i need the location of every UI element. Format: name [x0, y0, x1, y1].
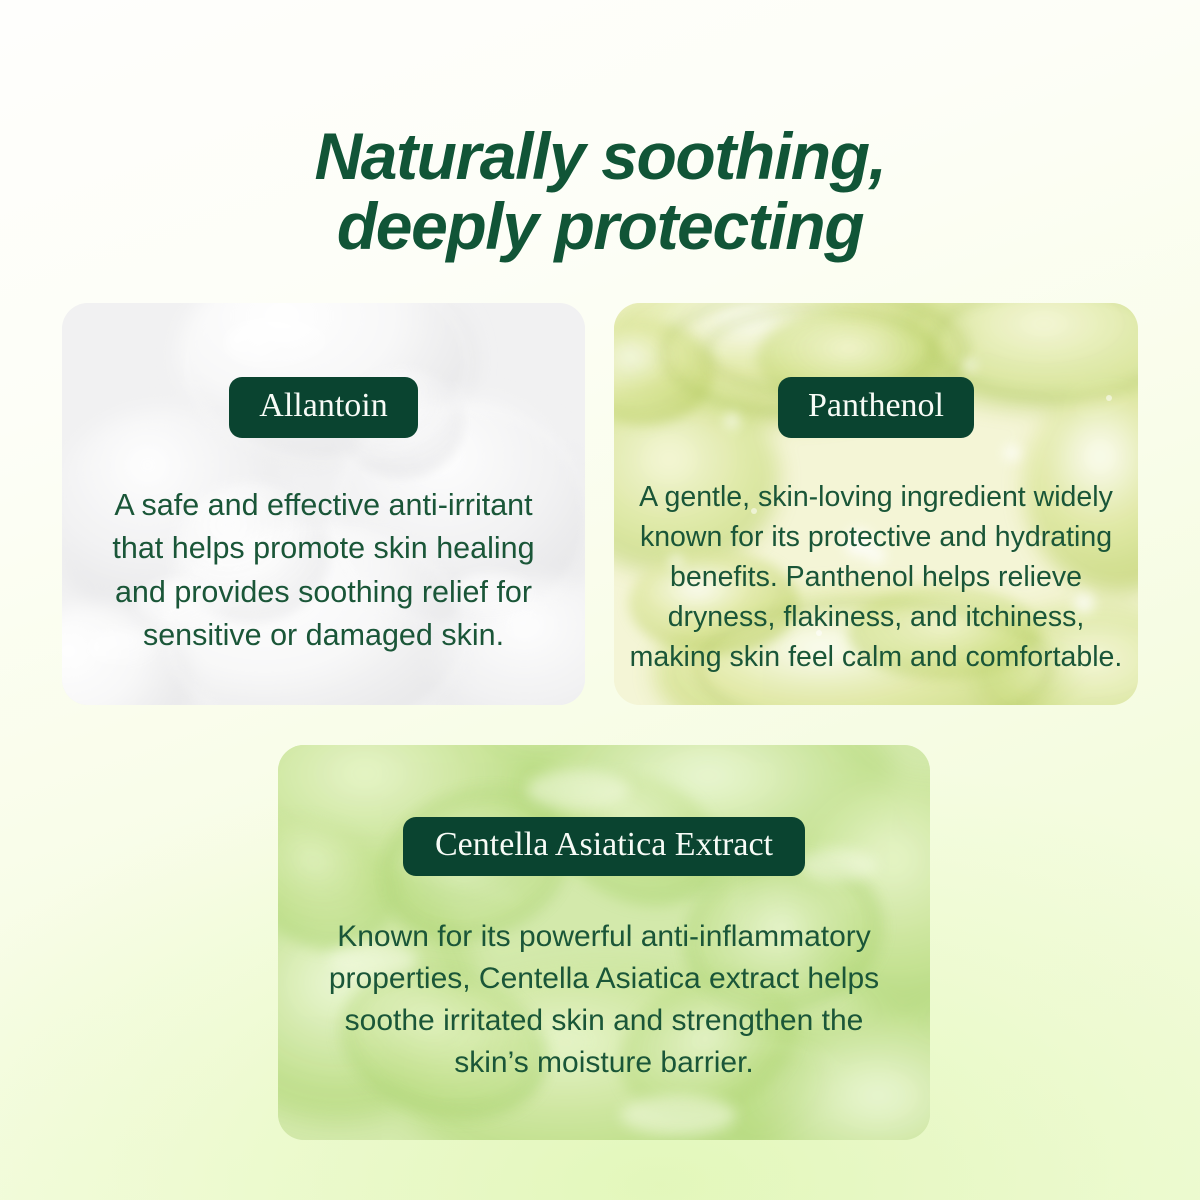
page-title-line-2: deeply protecting [0, 192, 1200, 262]
ingredient-card-panthenol: Panthenol A gentle, skin-loving ingredie… [614, 303, 1138, 705]
page-title: Naturally soothing, deeply protecting [0, 122, 1200, 262]
ingredient-card-centella: Centella Asiatica Extract Known for its … [278, 745, 930, 1140]
ingredient-description-allantoin: A safe and effective anti-irritant that … [89, 484, 559, 657]
card-content: Allantoin A safe and effective anti-irri… [62, 303, 585, 705]
ingredient-description-centella: Known for its powerful anti-inflammatory… [314, 916, 894, 1084]
ingredient-card-allantoin: Allantoin A safe and effective anti-irri… [62, 303, 585, 705]
ingredient-badge-panthenol: Panthenol [778, 377, 974, 438]
card-content: Panthenol A gentle, skin-loving ingredie… [614, 303, 1138, 705]
card-content: Centella Asiatica Extract Known for its … [278, 745, 930, 1140]
ingredient-badge-allantoin: Allantoin [229, 377, 417, 438]
page-title-line-1: Naturally soothing, [0, 122, 1200, 192]
ingredient-badge-centella: Centella Asiatica Extract [403, 817, 805, 876]
ingredient-description-panthenol: A gentle, skin-loving ingredient widely … [626, 478, 1126, 677]
infographic-canvas: Naturally soothing, deeply protecting [0, 0, 1200, 1200]
